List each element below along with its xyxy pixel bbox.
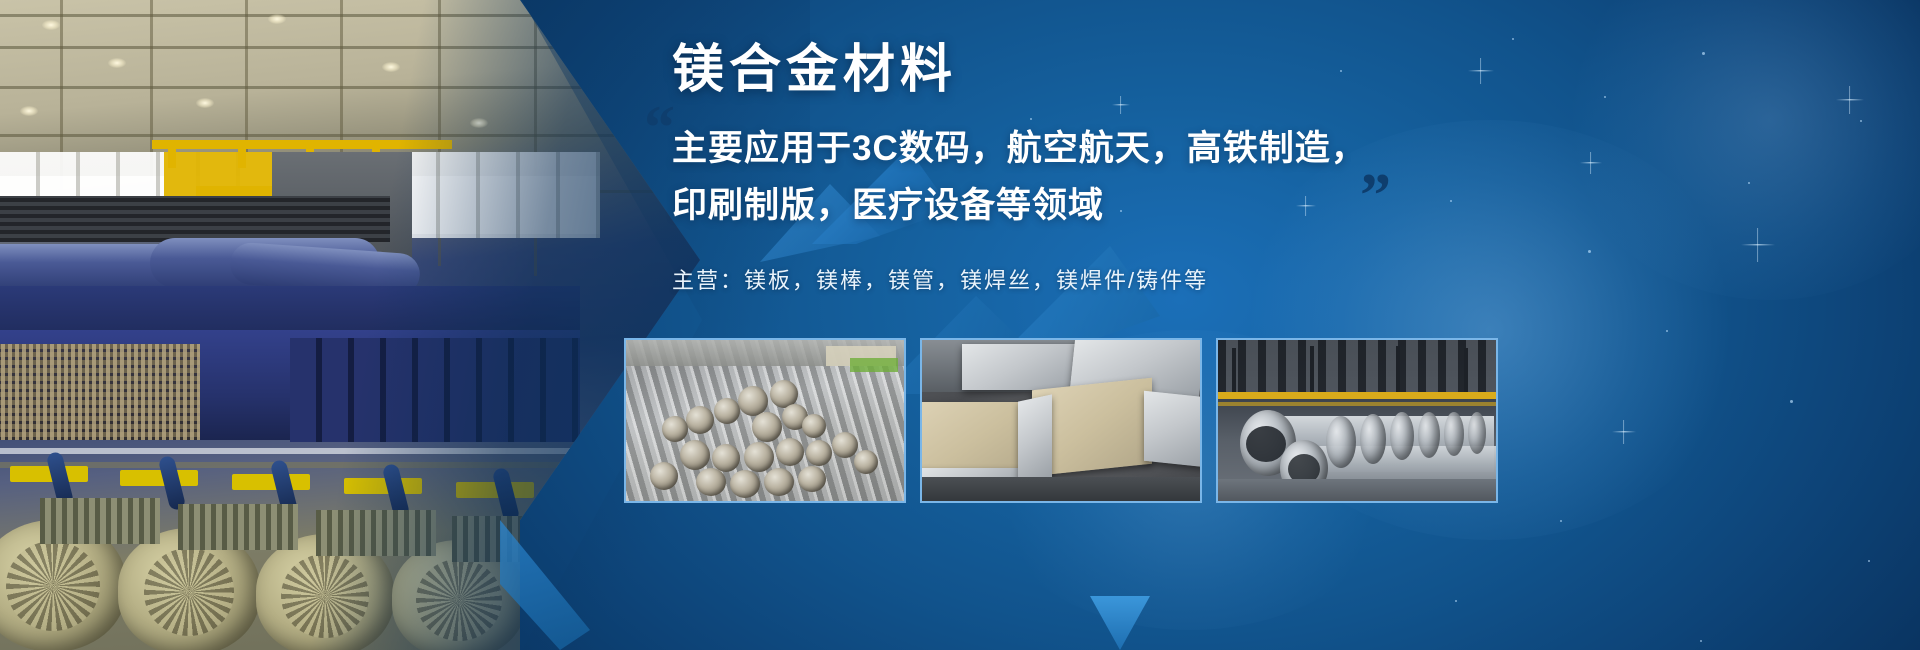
subtitle-line-2: 印刷制版，医疗设备等领域 bbox=[672, 178, 1792, 235]
product-hero-banner: 镁合金材料 “ 主要应用于3C数码，航空航天，高铁制造， 印刷制版，医疗设备等领… bbox=[0, 0, 1920, 650]
sparkle-icon bbox=[1612, 420, 1636, 444]
facet-arrow-down bbox=[1090, 596, 1150, 650]
subtitle-block: “ 主要应用于3C数码，航空航天，高铁制造， 印刷制版，医疗设备等领域 ” bbox=[672, 121, 1792, 234]
quote-open-icon: “ bbox=[644, 97, 675, 159]
subtitle-line-1: 主要应用于3C数码，航空航天，高铁制造， bbox=[672, 121, 1792, 178]
product-thumb-plates[interactable] bbox=[920, 338, 1202, 503]
main-products-line: 主营：镁板，镁棒，镁管，镁焊丝，镁焊件/铸件等 bbox=[672, 263, 1792, 295]
quote-close-icon: ” bbox=[1360, 165, 1391, 227]
factory-production-line-photo bbox=[0, 0, 700, 650]
page-title: 镁合金材料 bbox=[672, 42, 1792, 99]
sparkle-icon bbox=[1836, 86, 1864, 114]
product-thumb-coils[interactable] bbox=[1216, 338, 1498, 503]
product-thumb-bars[interactable] bbox=[624, 338, 906, 503]
product-thumbnail-row bbox=[624, 338, 1498, 503]
banner-copy: 镁合金材料 “ 主要应用于3C数码，航空航天，高铁制造， 印刷制版，医疗设备等领… bbox=[672, 42, 1792, 295]
